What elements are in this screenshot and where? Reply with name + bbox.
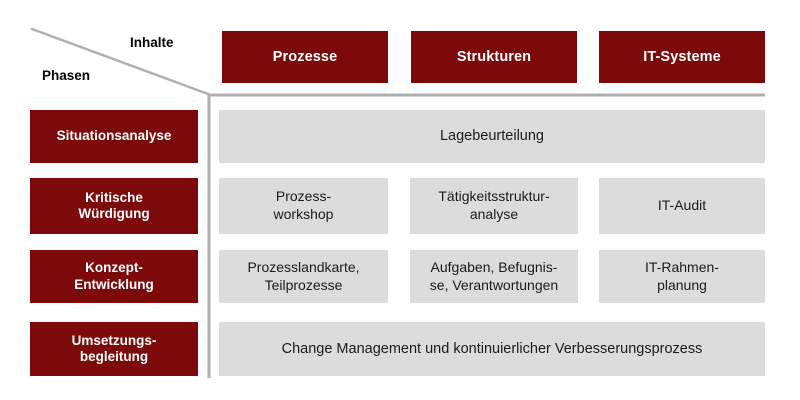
matrix-diagram: Inhalte Phasen Prozesse Strukturen IT-Sy… (0, 0, 800, 400)
diagonal-divider-line (32, 29, 208, 94)
column-header-it-systeme[interactable]: IT-Systeme (599, 31, 765, 83)
column-header-strukturen[interactable]: Strukturen (411, 31, 577, 83)
row-header-kritische-wuerdigung[interactable]: Kritische Würdigung (30, 178, 198, 234)
cell-konzept-entwicklung-strukturen[interactable]: Aufgaben, Befugnis- se, Verantwortungen (410, 250, 578, 303)
row-header-umsetzungsbegleitung[interactable]: Umsetzungs- begleitung (30, 322, 198, 376)
column-header-prozesse[interactable]: Prozesse (222, 31, 388, 83)
cell-kritische-wuerdigung-prozesse[interactable]: Prozess- workshop (219, 178, 388, 234)
row-header-konzept-entwicklung[interactable]: Konzept- Entwicklung (30, 250, 198, 303)
cell-konzept-entwicklung-it-systeme[interactable]: IT-Rahmen- planung (599, 250, 765, 303)
cell-situationsanalyse-all[interactable]: Lagebeurteilung (219, 110, 765, 163)
axis-label-rows: Phasen (42, 69, 90, 83)
axis-label-columns: Inhalte (130, 36, 174, 50)
cell-umsetzungsbegleitung-all[interactable]: Change Management und kontinuierlicher V… (219, 322, 765, 376)
cell-kritische-wuerdigung-it-systeme[interactable]: IT-Audit (599, 178, 765, 234)
cell-konzept-entwicklung-prozesse[interactable]: Prozesslandkarte, Teilprozesse (219, 250, 388, 303)
row-header-situationsanalyse[interactable]: Situationsanalyse (30, 110, 198, 163)
cell-kritische-wuerdigung-strukturen[interactable]: Tätigkeitsstruktur- analyse (410, 178, 578, 234)
